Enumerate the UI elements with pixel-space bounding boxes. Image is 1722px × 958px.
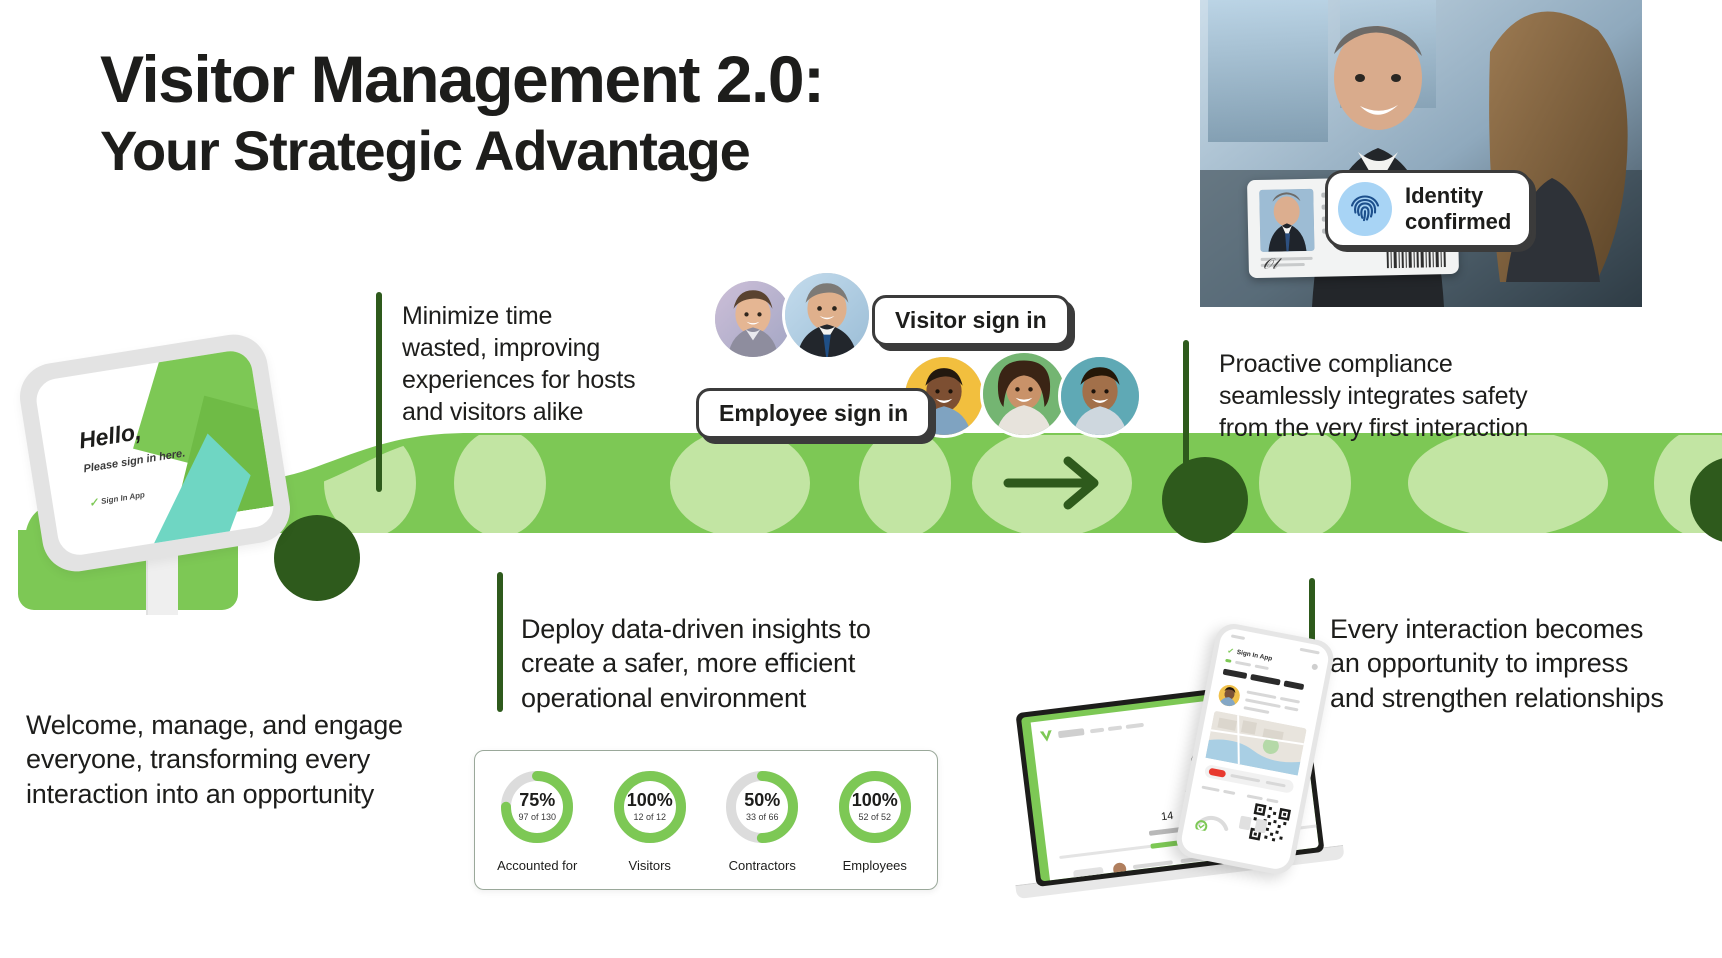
avatar-image <box>1061 357 1139 435</box>
identity-badge-text: Identity confirmed <box>1405 183 1511 234</box>
skeleton-bar <box>1255 664 1269 670</box>
skeleton-chip <box>1073 867 1104 880</box>
list-avatar <box>1112 862 1126 876</box>
kiosk-tablet: Hello, Please sign in here. ✓ Sign In Ap… <box>15 330 295 577</box>
connector-bar-compliance <box>1183 340 1189 480</box>
metric-accounted-for: 75% 97 of 130 Accounted for <box>487 768 587 873</box>
callout-minimize-time-text: Minimize time wasted, improving experien… <box>402 300 702 428</box>
donut-detail: 52 of 52 <box>858 812 891 822</box>
employee-sign-in-pill[interactable]: Employee sign in <box>696 388 931 439</box>
donut-chart: 50% 33 of 66 <box>723 768 801 846</box>
avatar <box>782 270 872 360</box>
metric-label: Contractors <box>729 858 796 873</box>
skeleton-bar <box>1247 794 1263 800</box>
skeleton-bar <box>1250 674 1281 686</box>
identity-line-2: confirmed <box>1405 209 1511 234</box>
metric-contractors: 50% 33 of 66 Contractors <box>712 768 812 873</box>
skeleton-bar <box>1246 690 1276 699</box>
connector-bar-minimize <box>376 292 382 492</box>
phone-brand: ✓ Sign In App <box>1226 646 1272 664</box>
laptop-stat-1: 14 <box>1160 810 1174 823</box>
avatar-image <box>785 273 869 357</box>
donut-percent: 100% <box>627 791 673 809</box>
donut-percent: 75% <box>519 791 555 809</box>
metric-label: Visitors <box>629 858 671 873</box>
title-line-2: Your Strategic Advantage <box>100 120 824 183</box>
device-mockups: ACORN ACADEMY 14 2 <box>1010 640 1430 910</box>
avatar-image <box>1217 683 1242 708</box>
skeleton-bar <box>1201 786 1219 792</box>
slide-canvas: Visitor Management 2.0: Your Strategic A… <box>0 0 1722 958</box>
skeleton-bar <box>1223 790 1235 795</box>
metrics-dashboard: 75% 97 of 130 Accounted for 100% 12 of 1… <box>474 750 938 890</box>
avatar-image <box>983 353 1065 435</box>
skeleton-bar <box>1266 798 1278 803</box>
status-badge <box>1208 768 1226 778</box>
reception-photo: 𝒪𝓁 Identity confirmed <box>1200 0 1642 307</box>
path-node-2 <box>1162 457 1248 543</box>
metric-visitors: 100% 12 of 12 Visitors <box>600 768 700 873</box>
skeleton-bar <box>1284 706 1298 712</box>
page-title: Visitor Management 2.0: Your Strategic A… <box>100 45 824 182</box>
gear-icon <box>1311 663 1318 670</box>
barcode-icon <box>1386 247 1448 268</box>
identity-line-1: Identity <box>1405 183 1483 208</box>
connector-bar-data-driven <box>497 572 503 712</box>
skeleton-bar <box>1090 728 1104 734</box>
skeleton-bar <box>1058 728 1085 738</box>
kiosk-greeting: Hello, <box>77 418 143 454</box>
skeleton-bar <box>1230 774 1260 783</box>
donut-detail: 12 of 12 <box>633 812 666 822</box>
donut-chart: 75% 97 of 130 <box>498 768 576 846</box>
skeleton-bar <box>1126 723 1144 729</box>
callout-proactive-compliance-text: Proactive compliance seamlessly integrat… <box>1219 348 1619 444</box>
avatar <box>980 350 1068 438</box>
skeleton-bar <box>1225 659 1231 663</box>
skeleton-bar <box>1243 706 1269 714</box>
donut-detail: 33 of 66 <box>746 812 779 822</box>
kiosk-screen: Hello, Please sign in here. ✓ Sign In Ap… <box>33 348 276 558</box>
avatar <box>1217 683 1242 708</box>
visitor-sign-in-pill[interactable]: Visitor sign in <box>872 295 1070 346</box>
metric-employees: 100% 52 of 52 Employees <box>825 768 925 873</box>
skeleton-bar <box>1280 697 1300 704</box>
skeleton-bar <box>1133 860 1173 869</box>
status-bar <box>1231 634 1245 640</box>
callout-welcome-text: Welcome, manage, and engage everyone, tr… <box>26 708 446 811</box>
app-logo-icon <box>1040 730 1053 742</box>
metric-label: Accounted for <box>497 858 577 873</box>
avatar <box>1058 354 1142 438</box>
check-icon: ✓ <box>1226 646 1234 656</box>
skeleton-bar <box>1266 781 1286 788</box>
callout-proactive-compliance: Proactive compliance seamlessly integrat… <box>1219 348 1619 444</box>
id-card-photo <box>1259 189 1314 252</box>
donut-chart: 100% 52 of 52 <box>836 768 914 846</box>
qr-code-icon <box>1248 802 1293 847</box>
kiosk-illustration: Hello, Please sign in here. ✓ Sign In Ap… <box>18 340 318 630</box>
donut-percent: 50% <box>744 791 780 809</box>
skeleton-bar <box>1108 725 1122 731</box>
callout-minimize-time: Minimize time wasted, improving experien… <box>402 300 702 428</box>
avatar-image <box>715 281 791 357</box>
fingerprint-icon <box>1338 182 1392 236</box>
kiosk-brand: ✓ Sign In App <box>88 488 146 510</box>
callout-data-driven-text: Deploy data-driven insights to create a … <box>521 612 941 715</box>
gauge-icon <box>1192 795 1238 836</box>
callout-data-driven: Deploy data-driven insights to create a … <box>521 612 941 715</box>
donut-chart: 100% 12 of 12 <box>611 768 689 846</box>
skeleton-bar <box>1283 680 1304 690</box>
skeleton-bar <box>1223 669 1248 679</box>
skeleton-bar <box>1235 661 1251 667</box>
check-icon: ✓ <box>88 496 99 510</box>
donut-percent: 100% <box>852 791 898 809</box>
metric-label: Employees <box>843 858 907 873</box>
title-line-1: Visitor Management 2.0: <box>100 45 824 114</box>
id-signature: 𝒪𝓁 <box>1263 255 1317 272</box>
phone-brand-label: Sign In App <box>1236 649 1273 663</box>
donut-detail: 97 of 130 <box>518 812 556 822</box>
identity-confirmed-badge: Identity confirmed <box>1325 170 1532 248</box>
status-bar <box>1300 648 1320 655</box>
callout-welcome: Welcome, manage, and engage everyone, tr… <box>26 708 446 811</box>
kiosk-brand-label: Sign In App <box>100 490 145 506</box>
